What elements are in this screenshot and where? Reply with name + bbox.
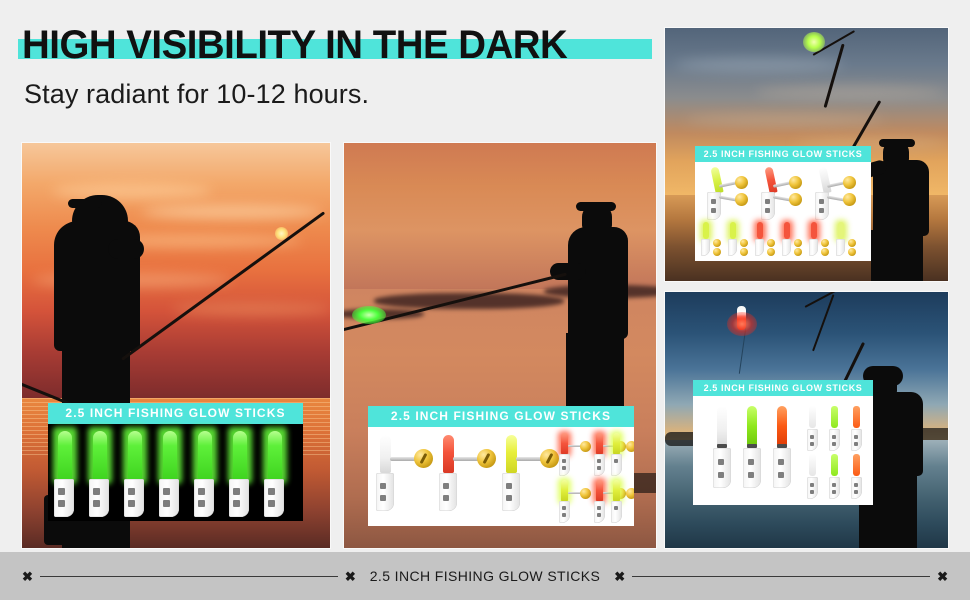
header: HIGH VISIBILITY IN THE DARK Stay radiant… <box>22 22 662 132</box>
x-mark-icon: ✖ <box>937 570 948 583</box>
float-red-glow <box>727 312 757 336</box>
cloud <box>675 58 845 72</box>
photo-panel-left[interactable]: 2.5 INCH FISHING GLOW STICKS <box>22 143 330 548</box>
angler-cap <box>68 199 102 208</box>
footer-label: 2.5 INCH FISHING GLOW STICKS <box>356 568 615 584</box>
footer-line <box>40 576 338 577</box>
glow-tip-light <box>275 227 288 240</box>
card-title: 2.5 INCH FISHING GLOW STICKS <box>695 146 871 162</box>
x-mark-icon: ✖ <box>614 570 625 583</box>
angler-legs <box>871 230 923 281</box>
product-card-top-right[interactable]: 2.5 INCH FISHING GLOW STICKS <box>695 146 871 261</box>
infographic-root: HIGH VISIBILITY IN THE DARK Stay radiant… <box>0 0 970 600</box>
angler-body <box>568 227 628 339</box>
card-title: 2.5 INCH FISHING GLOW STICKS <box>368 406 634 427</box>
card-body <box>368 427 634 526</box>
subtitle: Stay radiant for 10-12 hours. <box>24 78 662 110</box>
glow-tip-light <box>803 32 825 52</box>
product-card-mid[interactable]: 2.5 INCH FISHING GLOW STICKS <box>368 406 634 526</box>
photo-panel-bottom-right[interactable]: 2.5 INCH FISHING GLOW STICKS <box>665 292 948 548</box>
product-card-bottom-right[interactable]: 2.5 INCH FISHING GLOW STICKS <box>693 380 873 505</box>
product-card-left[interactable]: 2.5 INCH FISHING GLOW STICKS <box>48 403 303 521</box>
angler-cap <box>879 139 915 147</box>
x-mark-icon: ✖ <box>22 570 33 583</box>
rock-line <box>374 293 564 309</box>
cloud <box>142 205 322 219</box>
footer-rule-left: ✖ ✖ <box>0 570 356 583</box>
footer-rule-right: ✖ ✖ <box>614 570 970 583</box>
cloud <box>52 183 212 199</box>
page-title: HIGH VISIBILITY IN THE DARK <box>22 22 567 68</box>
cloud <box>755 86 945 99</box>
angler-cap <box>576 202 616 211</box>
card-title: 2.5 INCH FISHING GLOW STICKS <box>48 403 303 424</box>
card-body <box>48 424 303 521</box>
glow-stick-light-green <box>352 306 386 324</box>
cloud <box>685 114 885 126</box>
photo-panel-top-right[interactable]: 2.5 INCH FISHING GLOW STICKS <box>665 28 948 281</box>
headline-wrap: HIGH VISIBILITY IN THE DARK <box>22 22 590 68</box>
card-title: 2.5 INCH FISHING GLOW STICKS <box>693 380 873 396</box>
x-mark-icon: ✖ <box>345 570 356 583</box>
footer: ✖ ✖ 2.5 INCH FISHING GLOW STICKS ✖ ✖ <box>0 552 970 600</box>
angler-arm <box>108 239 144 259</box>
card-body <box>695 162 871 261</box>
footer-row: ✖ ✖ 2.5 INCH FISHING GLOW STICKS ✖ ✖ <box>0 568 970 584</box>
footer-line <box>632 576 930 577</box>
card-body <box>693 396 873 505</box>
photo-panel-mid[interactable]: 2.5 INCH FISHING GLOW STICKS <box>344 143 656 548</box>
